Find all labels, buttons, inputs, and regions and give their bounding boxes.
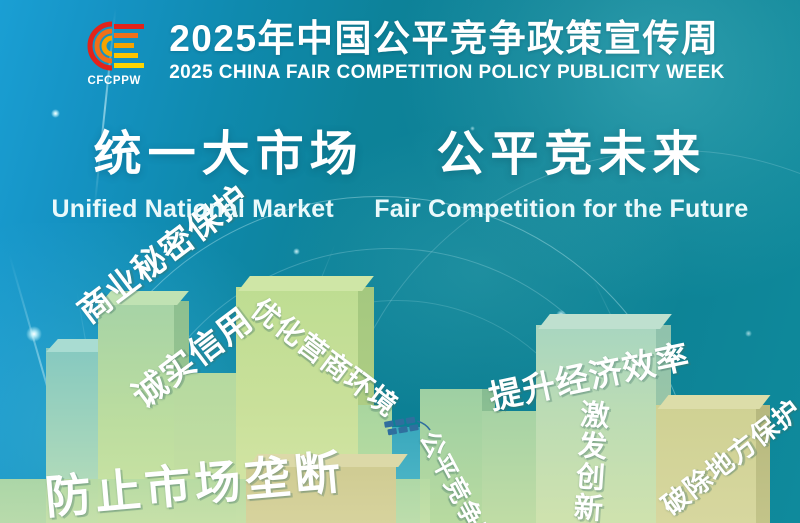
header-title-english: 2025 CHINA FAIR COMPETITION POLICY PUBLI… — [169, 62, 725, 85]
promotional-poster: CFCPPW 2025年中国公平竞争政策宣传周 2025 CHINA FAIR … — [0, 0, 800, 523]
slogan-chinese-part2: 公平竞未来 — [436, 128, 706, 181]
sparkle-1 — [51, 109, 60, 118]
block-top — [538, 314, 672, 329]
cfcppw-logo-icon — [80, 20, 148, 72]
poster-header: CFCPPW 2025年中国公平竞争政策宣传周 2025 CHINA FAIR … — [0, 0, 800, 104]
slogan-english-part2: Fair Competition for the Future — [374, 195, 748, 223]
logo-block: CFCPPW — [75, 20, 153, 87]
slogan-chinese-part1: 统一大市场 — [94, 128, 364, 181]
logo-abbreviation: CFCPPW — [88, 75, 141, 87]
header-title-group: 2025年中国公平竞争政策宣传周 2025 CHINA FAIR COMPETI… — [169, 19, 725, 84]
block-top — [238, 276, 374, 291]
building-block-9 — [482, 411, 536, 523]
slogan-chinese: 统一大市场 公平竞未来 — [0, 125, 800, 185]
header-title-chinese: 2025年中国公平竞争政策宣传周 — [169, 19, 725, 58]
slogan-english-part1: Unified National Market — [52, 195, 334, 223]
block-face — [482, 411, 536, 523]
slogan-block: 统一大市场 公平竞未来 Unified National Market Fair… — [0, 125, 800, 226]
slogan-english: Unified National Market Fair Competition… — [0, 193, 800, 226]
block-top — [658, 395, 771, 409]
